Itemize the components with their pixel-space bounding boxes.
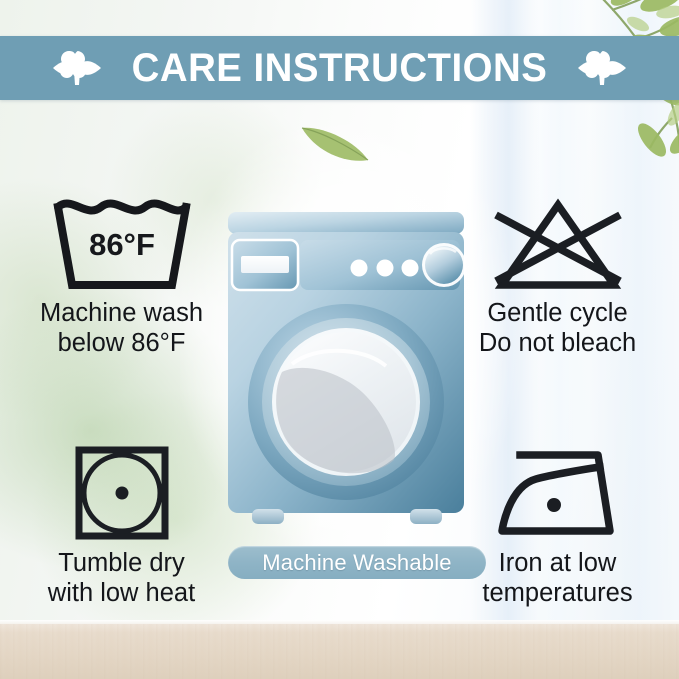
floating-leaf-decoration <box>296 118 374 170</box>
header-banner: CARE INSTRUCTIONS <box>0 36 679 100</box>
caption-line-1: Tumble dry <box>58 549 185 577</box>
caption-line-1: Iron at low <box>499 549 617 577</box>
badge-label: Machine Washable <box>262 552 451 574</box>
care-symbol-caption: Iron at low temperatures <box>482 549 632 608</box>
washer-foot-left <box>252 509 284 524</box>
care-symbol-caption: Machine wash below 86°F <box>40 299 203 358</box>
caption-line-2: Do not bleach <box>479 329 636 359</box>
indicator-button <box>402 260 419 277</box>
care-symbol-machine-wash: 86°F Machine wash below 86°F <box>14 193 229 358</box>
drawer-slot <box>241 256 289 273</box>
caption-line-2: with low heat <box>48 579 195 609</box>
caption-line-2: below 86°F <box>40 329 203 359</box>
care-symbol-caption: Gentle cycle Do not bleach <box>479 299 636 358</box>
tumble-dry-icon-box <box>72 443 172 543</box>
wash-tub-icon-box: 86°F <box>46 193 198 293</box>
control-dial <box>422 243 466 287</box>
washer-indicator-buttons <box>351 260 419 277</box>
wash-temperature-value: 86°F <box>89 227 155 262</box>
detergent-drawer <box>232 240 298 290</box>
caption-line-2: temperatures <box>482 579 632 609</box>
care-symbol-tumble-dry-low: Tumble dry with low heat <box>14 443 229 608</box>
indicator-button <box>351 260 368 277</box>
care-symbol-gentle-cycle-no-bleach: Gentle cycle Do not bleach <box>450 193 665 358</box>
care-symbol-caption: Tumble dry with low heat <box>48 549 195 608</box>
care-instructions-infographic: CARE INSTRUCTIONS 86°F Machine wash <box>0 0 679 679</box>
machine-washable-badge: Machine Washable <box>228 546 486 579</box>
triangle-crossed-no-bleach-icon <box>488 193 628 293</box>
washer-door <box>248 304 444 500</box>
washing-machine-illustration <box>222 212 470 524</box>
iron-icon-box <box>488 443 628 543</box>
wash-tub-icon: 86°F <box>46 193 198 293</box>
caption-line-1: Machine wash <box>40 299 203 327</box>
fleur-de-lis-ornament-right-icon <box>574 47 630 89</box>
washer-foot-right <box>410 509 442 524</box>
indicator-button <box>377 260 394 277</box>
no-bleach-icon-box <box>488 193 628 293</box>
washer-top-panel <box>228 212 464 234</box>
page-title: CARE INSTRUCTIONS <box>132 48 548 88</box>
fleur-de-lis-ornament-left-icon <box>49 47 105 89</box>
caption-line-1: Gentle cycle <box>487 299 627 327</box>
tumble-dry-low-heat-icon <box>72 443 172 543</box>
wooden-table-surface <box>0 624 679 679</box>
iron-low-temperature-icon <box>488 443 628 543</box>
care-symbol-iron-low: Iron at low temperatures <box>450 443 665 608</box>
